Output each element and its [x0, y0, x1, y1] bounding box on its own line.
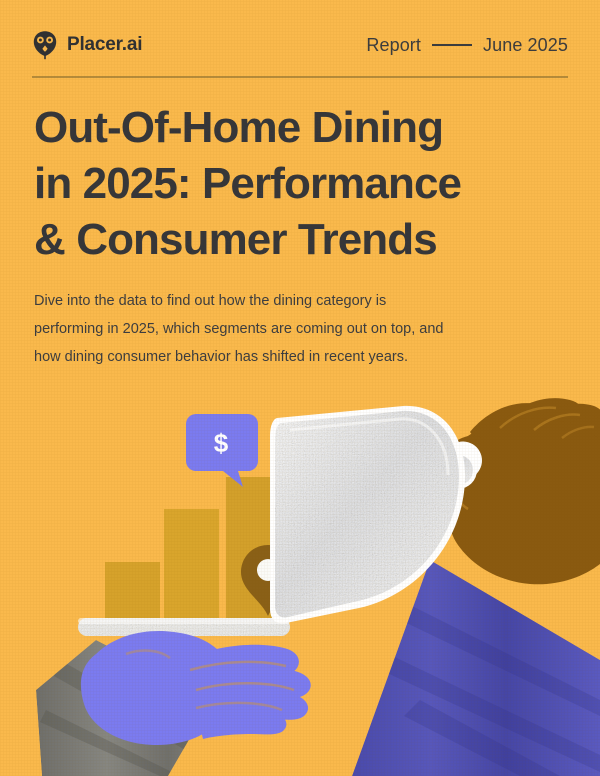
report-cover: $ — [0, 0, 600, 776]
bar-short — [105, 562, 160, 624]
header-divider — [32, 76, 568, 78]
report-label: Report — [366, 35, 421, 56]
header: Placer.ai Report June 2025 — [32, 28, 568, 62]
serving-tray — [78, 618, 290, 636]
report-meta: Report June 2025 — [366, 35, 568, 56]
meta-rule — [432, 44, 472, 46]
bar-medium — [164, 509, 219, 624]
speech-bubble-dollar: $ — [186, 414, 258, 487]
owl-icon — [32, 30, 58, 60]
report-date: June 2025 — [483, 35, 568, 56]
hand-left-periwinkle — [81, 631, 311, 745]
page-subtitle: Dive into the data to find out how the d… — [34, 288, 454, 372]
dollar-symbol: $ — [214, 428, 229, 458]
brand-name: Placer.ai — [67, 34, 142, 56]
page-title: Out-Of-Home Dining in 2025: Performance … — [34, 100, 579, 268]
brand-logo[interactable]: Placer.ai — [32, 30, 142, 60]
